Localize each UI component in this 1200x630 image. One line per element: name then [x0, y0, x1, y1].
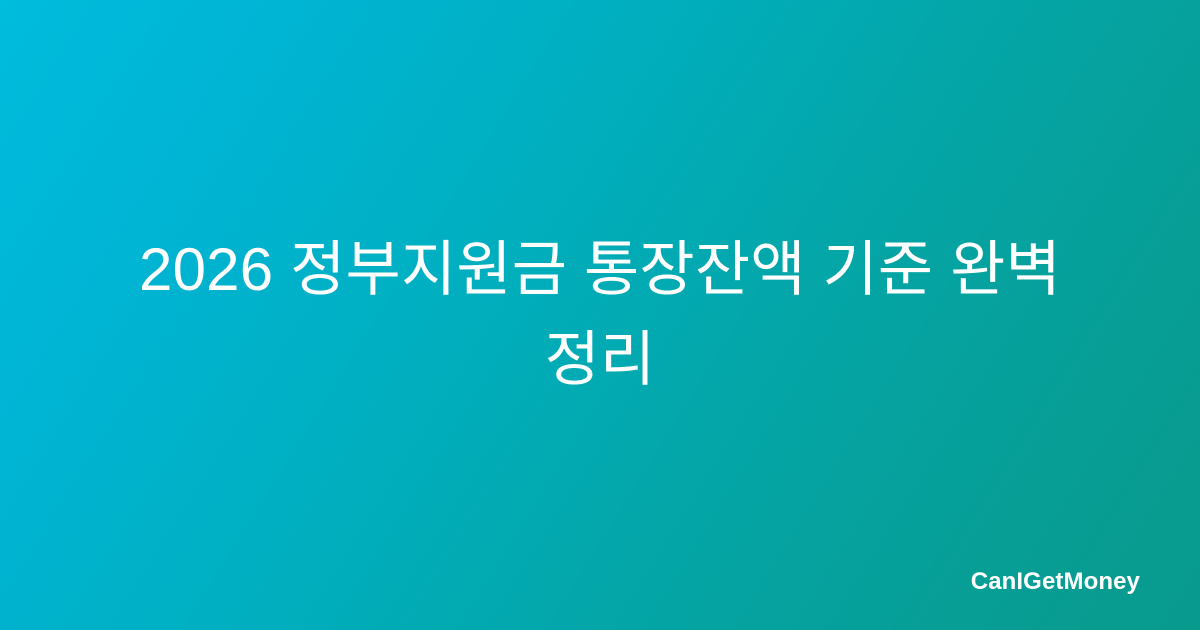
page-title: 2026 정부지원금 통장잔액 기준 완벽 정리	[100, 225, 1100, 405]
headline-container: 2026 정부지원금 통장잔액 기준 완벽 정리	[0, 0, 1200, 630]
og-card: 2026 정부지원금 통장잔액 기준 완벽 정리 CanIGetMoney	[0, 0, 1200, 630]
brand-watermark: CanIGetMoney	[971, 570, 1140, 594]
